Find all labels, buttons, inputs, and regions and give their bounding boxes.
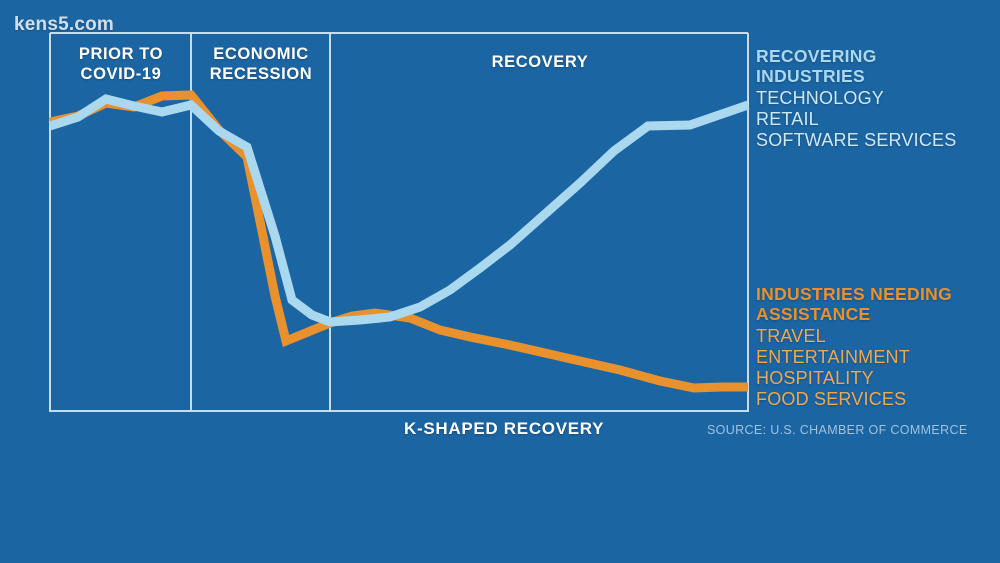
section-label-recovery: RECOVERY	[332, 52, 748, 72]
legend-recovering-industries: RECOVERING INDUSTRIES TECHNOLOGY RETAIL …	[756, 46, 956, 151]
legend-recovering-item-retail: RETAIL	[756, 109, 956, 130]
legend-recovering-item-technology: TECHNOLOGY	[756, 88, 956, 109]
legend-needing-item-hospitality: HOSPITALITY	[756, 368, 952, 389]
legend-needing-item-entertainment: ENTERTAINMENT	[756, 347, 952, 368]
section-label-recession-line1: ECONOMIC RECESSION	[210, 45, 313, 83]
legend-recovering-heading: RECOVERING INDUSTRIES	[756, 46, 956, 87]
legend-needing-heading: INDUSTRIES NEEDING ASSISTANCE	[756, 284, 952, 325]
chart-source-note: SOURCE: U.S. CHAMBER OF COMMERCE	[707, 423, 968, 437]
series-line-recovering-industries	[50, 99, 748, 322]
legend-needing-item-food-services: FOOD SERVICES	[756, 389, 952, 410]
section-label-prior-to-covid: PRIOR TO COVID-19	[52, 44, 190, 84]
section-label-economic-recession: ECONOMIC RECESSION	[192, 44, 330, 84]
chart-screenshot: kens5.com PRIOR TO COVID-19 ECONOMIC REC…	[0, 0, 1000, 563]
series-line-needing-assistance	[50, 95, 748, 388]
section-label-recovery-line1: RECOVERY	[492, 53, 589, 71]
chart-frame	[50, 33, 748, 411]
legend-industries-needing-assistance: INDUSTRIES NEEDING ASSISTANCE TRAVEL ENT…	[756, 284, 952, 410]
section-label-prior-line1: PRIOR TO COVID-19	[79, 45, 163, 83]
legend-needing-item-travel: TRAVEL	[756, 326, 952, 347]
legend-recovering-item-software-services: SOFTWARE SERVICES	[756, 130, 956, 151]
chart-caption: K-SHAPED RECOVERY	[404, 419, 604, 439]
